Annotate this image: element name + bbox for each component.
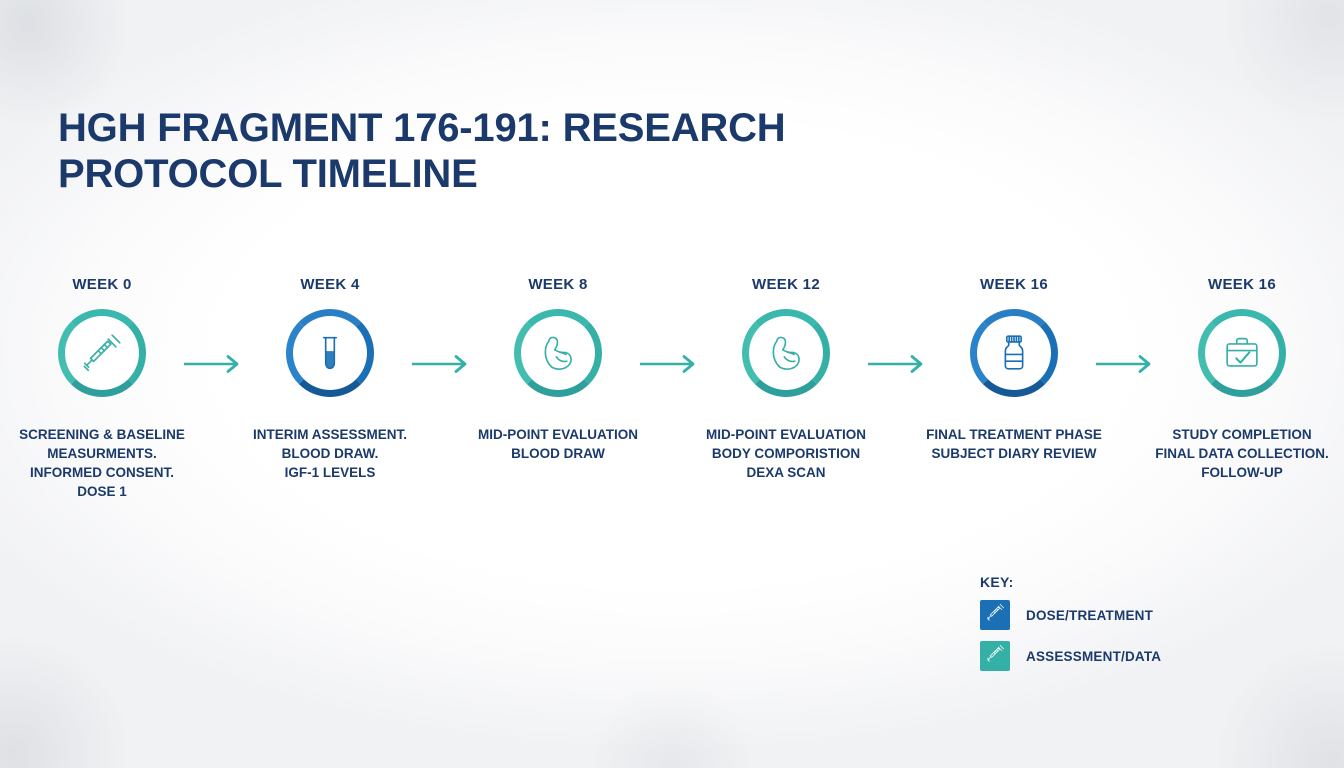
timeline-node-description-line: MEASURMENTS. xyxy=(2,444,202,463)
timeline-connector-arrow xyxy=(423,276,465,526)
timeline-node-description-line: SUBJECT DIARY REVIEW xyxy=(914,444,1114,463)
timeline-node-description-line: BODY COMPORISTION xyxy=(686,444,886,463)
syringe-icon xyxy=(79,330,125,376)
protocol-timeline: WEEK 0SCREENING & BASELINEMEASURMENTS.IN… xyxy=(0,276,1344,526)
timeline-node-description-line: MID-POINT EVALUATION xyxy=(458,425,658,444)
timeline-node[interactable]: WEEK 0SCREENING & BASELINEMEASURMENTS.IN… xyxy=(9,276,195,502)
timeline-node-description: STUDY COMPLETIONFINAL DATA COLLECTION.FO… xyxy=(1142,425,1342,482)
syringe-icon xyxy=(985,602,1006,628)
timeline-node-description-line: BLOOD DRAW. xyxy=(230,444,430,463)
timeline-node-description-line: INFORMED CONSENT. xyxy=(2,463,202,482)
legend-title: KEY: xyxy=(980,574,1280,590)
timeline-node-icon-circle[interactable] xyxy=(286,309,374,397)
legend: KEY: DOSE/TREATMENTASSESSMENT/DATA xyxy=(980,574,1280,682)
timeline-node-description-line: FINAL DATA COLLECTION. xyxy=(1142,444,1342,463)
timeline-node-description: MID-POINT EVALUATIONBODY COMPORISTIONDEX… xyxy=(686,425,886,482)
timeline-connector-arrow xyxy=(195,276,237,526)
page-title: HGH FRAGMENT 176-191: RESEARCH PROTOCOL … xyxy=(58,106,858,197)
page-title-line-2: PROTOCOL TIMELINE xyxy=(58,152,858,198)
legend-swatch xyxy=(980,600,1010,630)
timeline-node-description-line: SCREENING & BASELINE xyxy=(2,425,202,444)
timeline-node-description-line: IGF-1 LEVELS xyxy=(230,463,430,482)
timeline-node-description: FINAL TREATMENT PHASESUBJECT DIARY REVIE… xyxy=(914,425,1114,463)
timeline-node-description: MID-POINT EVALUATIONBLOOD DRAW xyxy=(458,425,658,463)
flexed-bicep-icon xyxy=(763,330,809,376)
timeline-node-week-label: WEEK 0 xyxy=(72,276,131,296)
timeline-node-week-label: WEEK 16 xyxy=(1208,276,1276,296)
timeline-node-icon-circle[interactable] xyxy=(970,309,1058,397)
timeline-node-icon-circle[interactable] xyxy=(514,309,602,397)
timeline-node-description-line: MID-POINT EVALUATION xyxy=(686,425,886,444)
timeline-node-icon-circle[interactable] xyxy=(58,309,146,397)
timeline-node-description-line: FOLLOW-UP xyxy=(1142,463,1342,482)
timeline-node-description-line: DOSE 1 xyxy=(2,482,202,501)
test-tube-icon xyxy=(307,330,353,376)
timeline-node[interactable]: WEEK 4INTERIM ASSESSMENT.BLOOD DRAW.IGF-… xyxy=(237,276,423,482)
timeline-node[interactable]: WEEK 16STUDY COMPLETIONFINAL DATA COLLEC… xyxy=(1149,276,1335,482)
timeline-node-description: INTERIM ASSESSMENT.BLOOD DRAW.IGF-1 LEVE… xyxy=(230,425,430,482)
legend-item: ASSESSMENT/DATA xyxy=(980,641,1280,671)
legend-item-label: ASSESSMENT/DATA xyxy=(1026,649,1161,664)
timeline-node[interactable]: WEEK 12MID-POINT EVALUATIONBODY COMPORIS… xyxy=(693,276,879,482)
timeline-node-description-line: FINAL TREATMENT PHASE xyxy=(914,425,1114,444)
timeline-node[interactable]: WEEK 8MID-POINT EVALUATIONBLOOD DRAW xyxy=(465,276,651,463)
legend-swatch xyxy=(980,641,1010,671)
timeline-node-week-label: WEEK 12 xyxy=(752,276,820,296)
timeline-node[interactable]: WEEK 16FINAL TREATMENT PHASESUBJECT DIAR… xyxy=(921,276,1107,463)
timeline-node-description-line: BLOOD DRAW xyxy=(458,444,658,463)
syringe-icon xyxy=(985,643,1006,669)
infographic-canvas: HGH FRAGMENT 176-191: RESEARCH PROTOCOL … xyxy=(0,0,1344,768)
timeline-node-description-line: STUDY COMPLETION xyxy=(1142,425,1342,444)
timeline-node-description-line: DEXA SCAN xyxy=(686,463,886,482)
timeline-connector-arrow xyxy=(1107,276,1149,526)
timeline-node-description: SCREENING & BASELINEMEASURMENTS.INFORMED… xyxy=(2,425,202,502)
legend-item: DOSE/TREATMENT xyxy=(980,600,1280,630)
timeline-connector-arrow xyxy=(879,276,921,526)
briefcase-check-icon xyxy=(1219,330,1265,376)
timeline-node-week-label: WEEK 16 xyxy=(980,276,1048,296)
timeline-node-icon-circle[interactable] xyxy=(1198,309,1286,397)
medicine-vial-icon xyxy=(991,330,1037,376)
timeline-node-week-label: WEEK 8 xyxy=(528,276,587,296)
flexed-bicep-icon xyxy=(535,330,581,376)
timeline-node-description-line: INTERIM ASSESSMENT. xyxy=(230,425,430,444)
page-title-line-1: HGH FRAGMENT 176-191: RESEARCH xyxy=(58,106,858,152)
timeline-connector-arrow xyxy=(651,276,693,526)
timeline-node-week-label: WEEK 4 xyxy=(300,276,359,296)
legend-item-label: DOSE/TREATMENT xyxy=(1026,608,1153,623)
legend-items: DOSE/TREATMENTASSESSMENT/DATA xyxy=(980,600,1280,671)
timeline-node-icon-circle[interactable] xyxy=(742,309,830,397)
